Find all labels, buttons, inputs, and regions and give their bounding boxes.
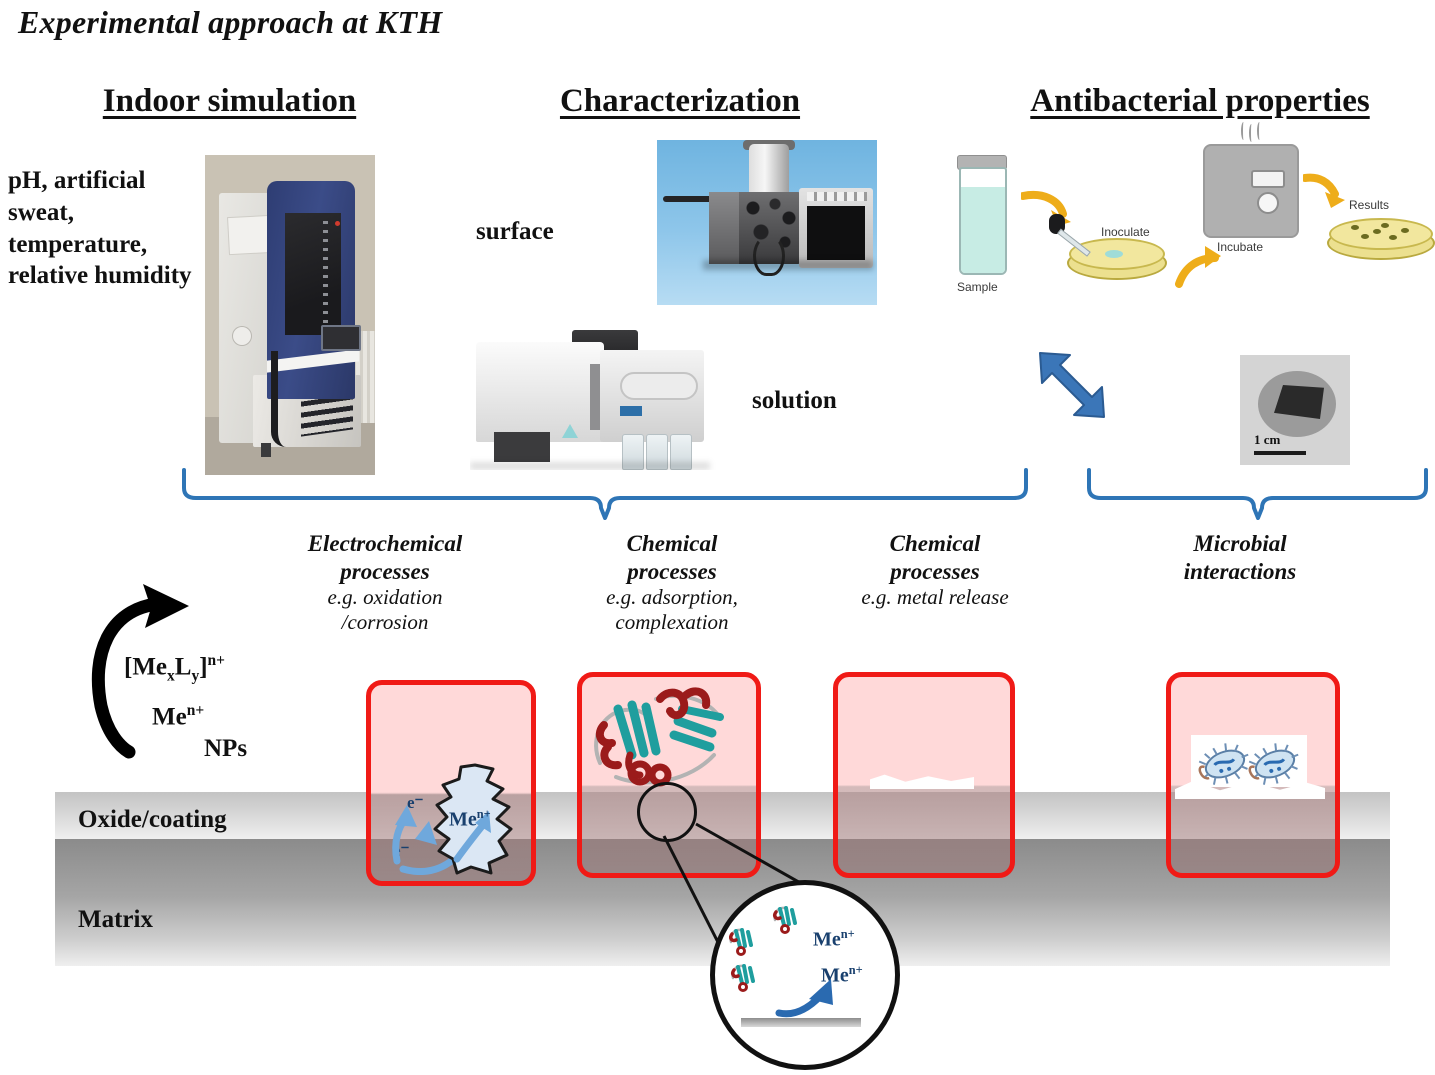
column-heading-antibacterial-properties: Antibacterial properties [975,83,1425,120]
incubator-knob [1257,192,1279,214]
complex-ligand: L [175,653,192,680]
aas-lower-module [494,432,550,462]
metal-ion-label: Men+ [449,807,491,832]
solution-analysis-instrument-photo [470,320,730,470]
process-title-line2: processes [830,558,1040,586]
label-solution: solution [752,387,837,415]
sample-jar-icon [955,155,1007,273]
workflow-label-results: Results [1349,198,1389,212]
aas-indicator [620,406,642,416]
aas-main-body [476,342,604,442]
oxide-layer-label: Oxide/coating [78,806,227,834]
process-title-line2: processes [270,558,500,586]
process-example-line1: e.g. metal release [830,585,1040,610]
steam-icon [1241,122,1269,144]
process-title-line2: interactions [1130,558,1350,586]
dish-top [1329,218,1433,250]
sem-chamber-face [709,192,739,264]
colony [1381,223,1389,228]
climate-chamber-photo [205,155,375,475]
jar-liquid [961,187,1005,273]
process-example-line2: complexation [562,610,782,635]
sem-cable [753,236,785,276]
metal-particle-icon: Men+ [431,763,517,875]
bracket-left [180,468,1030,520]
arrow-incubate-to-results-icon [1303,170,1355,210]
sem-shadow [703,260,873,270]
pipette-icon [1049,214,1095,260]
process-title-line1: Electrochemical [270,530,500,558]
red-box-electrochemical: e⁻ e⁻ Men+ [366,680,536,886]
species-nanoparticles-label: NPs [204,735,247,763]
callout-source-circle [637,782,697,842]
surface-analysis-instrument-photo [657,140,877,305]
results-petri-dish-icon [1327,218,1431,258]
chamber-cable [271,351,286,447]
inset-ion-label-1: Men+ [813,927,855,952]
pipette-stem [1057,229,1091,257]
chamber-knob [233,327,251,345]
bacteria-cells-icon [1197,739,1307,789]
double-arrow-icon [1030,345,1120,425]
process-example-line2: /corrosion [270,610,500,635]
complex-suffix: ] [199,653,207,680]
chamber-indicator-light [335,221,340,226]
scale-bar [1254,451,1306,455]
matrix-layer-label: Matrix [78,906,153,934]
scale-bar-label: 1 cm [1254,432,1280,448]
process-title-line2: processes [562,558,782,586]
colony [1389,235,1397,240]
bacteria-sample-photo: 1 cm [1240,355,1350,465]
chamber-window-strip [323,221,328,325]
simulation-parameters-list: pH, artificial sweat, temperature, relat… [8,165,208,292]
chamber-control-panel [321,325,361,351]
aas-arm [590,364,600,430]
callout-zoom-inset: Men+ Men+ [710,880,900,1070]
incubator-display [1251,170,1285,188]
sem-button-row [807,192,867,201]
bracket-right [1085,468,1430,520]
aas-sample-tray [620,372,698,400]
process-title-line1: Microbial [1130,530,1350,558]
process-example-line1: e.g. adsorption, [562,585,782,610]
antibacterial-workflow-diagram: Sample Inoculate Incubate [945,130,1435,320]
process-caption-electrochemical: Electrochemical processes e.g. oxidation… [270,530,500,636]
colony [1351,225,1359,230]
ion-charge: n+ [187,702,204,719]
sem-screen [807,206,865,260]
chamber-window [285,213,341,335]
colony [1373,229,1381,234]
red-box-microbial-interactions [1166,672,1340,878]
inset-release-arrow-icon [775,977,855,1023]
chamber-paper-note [228,216,272,254]
workflow-label-sample: Sample [957,280,998,294]
process-caption-microbial: Microbial interactions [1130,530,1350,585]
dish-inoculum-drop [1105,250,1123,258]
colony [1401,228,1409,233]
colony [1361,234,1369,239]
process-caption-chemical-adsorption: Chemical processes e.g. adsorption, comp… [562,530,782,636]
process-title-line1: Chemical [830,530,1040,558]
complex-prefix: [Me [124,653,167,680]
jar-glass [959,167,1007,275]
incubator-icon [1203,144,1299,238]
ion-base: Me [152,703,187,730]
process-example-line1: e.g. oxidation [270,585,500,610]
workflow-label-inoculate: Inoculate [1101,225,1150,239]
chamber-foot [261,443,271,457]
column-heading-indoor-simulation: Indoor simulation [62,83,397,120]
species-complex-label: [MexLy]n+ [124,652,225,685]
label-surface: surface [476,218,554,246]
workflow-label-incubate: Incubate [1217,240,1263,254]
complex-charge: n+ [208,652,225,669]
column-heading-characterization: Characterization [520,83,840,120]
complex-x: x [167,667,175,684]
process-caption-chemical-release: Chemical processes e.g. metal release [830,530,1040,610]
species-metal-ion-label: Men+ [152,702,204,731]
process-title-line1: Chemical [562,530,782,558]
page-title: Experimental approach at KTH [18,4,442,41]
